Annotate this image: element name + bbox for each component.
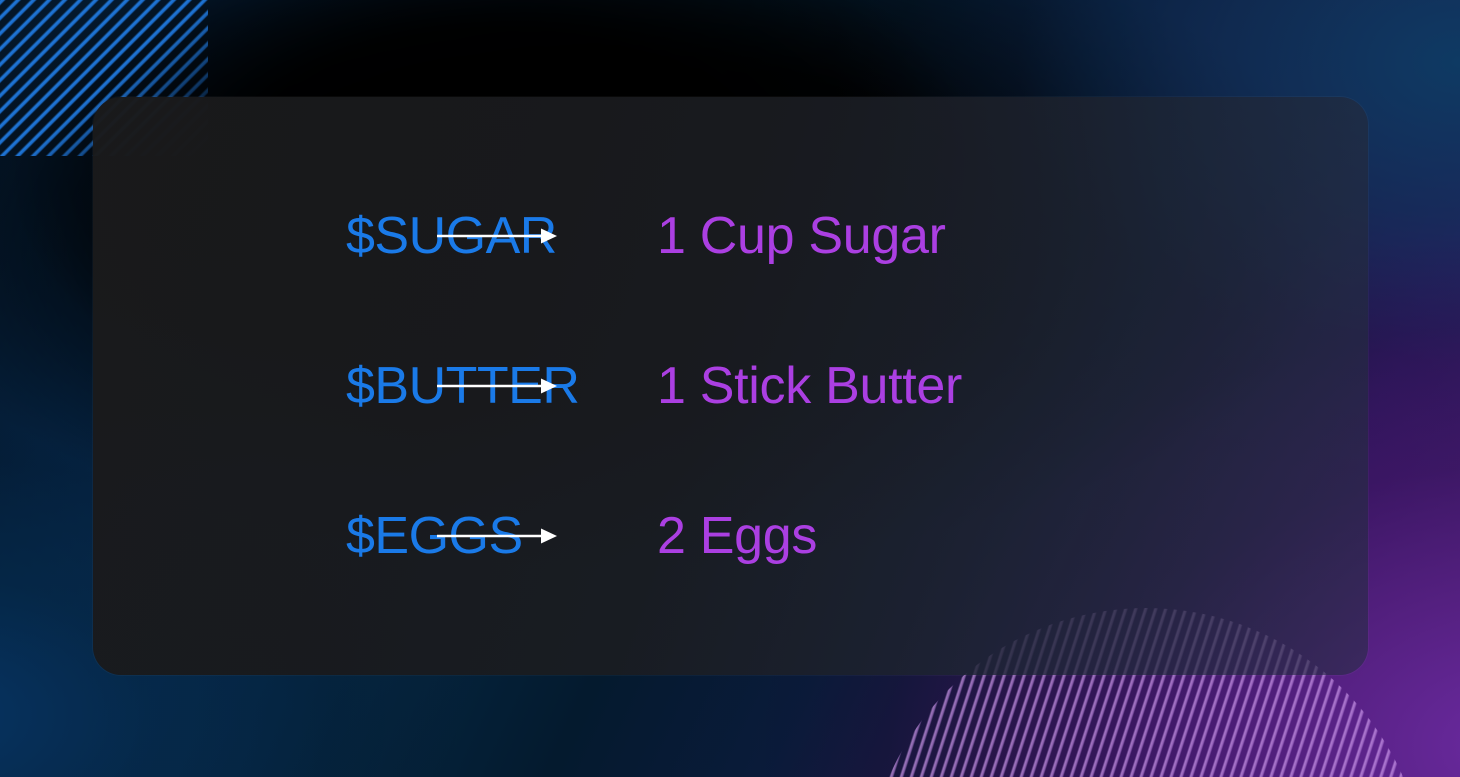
- value-cell: 1 Stick Butter: [589, 360, 1368, 412]
- arrow-right-icon: [437, 375, 557, 397]
- mapping-card: $SUGAR 1 Cup Sugar $BUTTER: [93, 97, 1368, 675]
- table-row: $SUGAR 1 Cup Sugar: [93, 161, 1368, 311]
- value-text: 2 Eggs: [657, 507, 817, 565]
- value-cell: 2 Eggs: [589, 510, 1368, 562]
- table-row: $EGGS 2 Eggs: [93, 461, 1368, 611]
- table-row: $BUTTER 1 Stick Butter: [93, 311, 1368, 461]
- value-text: 1 Stick Butter: [657, 357, 962, 415]
- arrow-cell: [405, 375, 589, 397]
- arrow-cell: [405, 225, 589, 247]
- arrow-right-icon: [437, 525, 557, 547]
- value-text: 1 Cup Sugar: [657, 207, 946, 265]
- value-cell: 1 Cup Sugar: [589, 210, 1368, 262]
- variable-cell: $EGGS: [93, 510, 405, 562]
- screenshot-stage: $SUGAR 1 Cup Sugar $BUTTER: [0, 0, 1460, 777]
- variable-cell: $BUTTER: [93, 360, 405, 412]
- arrow-right-icon: [437, 225, 557, 247]
- mapping-list: $SUGAR 1 Cup Sugar $BUTTER: [93, 97, 1368, 675]
- arrow-cell: [405, 525, 589, 547]
- variable-cell: $SUGAR: [93, 210, 405, 262]
